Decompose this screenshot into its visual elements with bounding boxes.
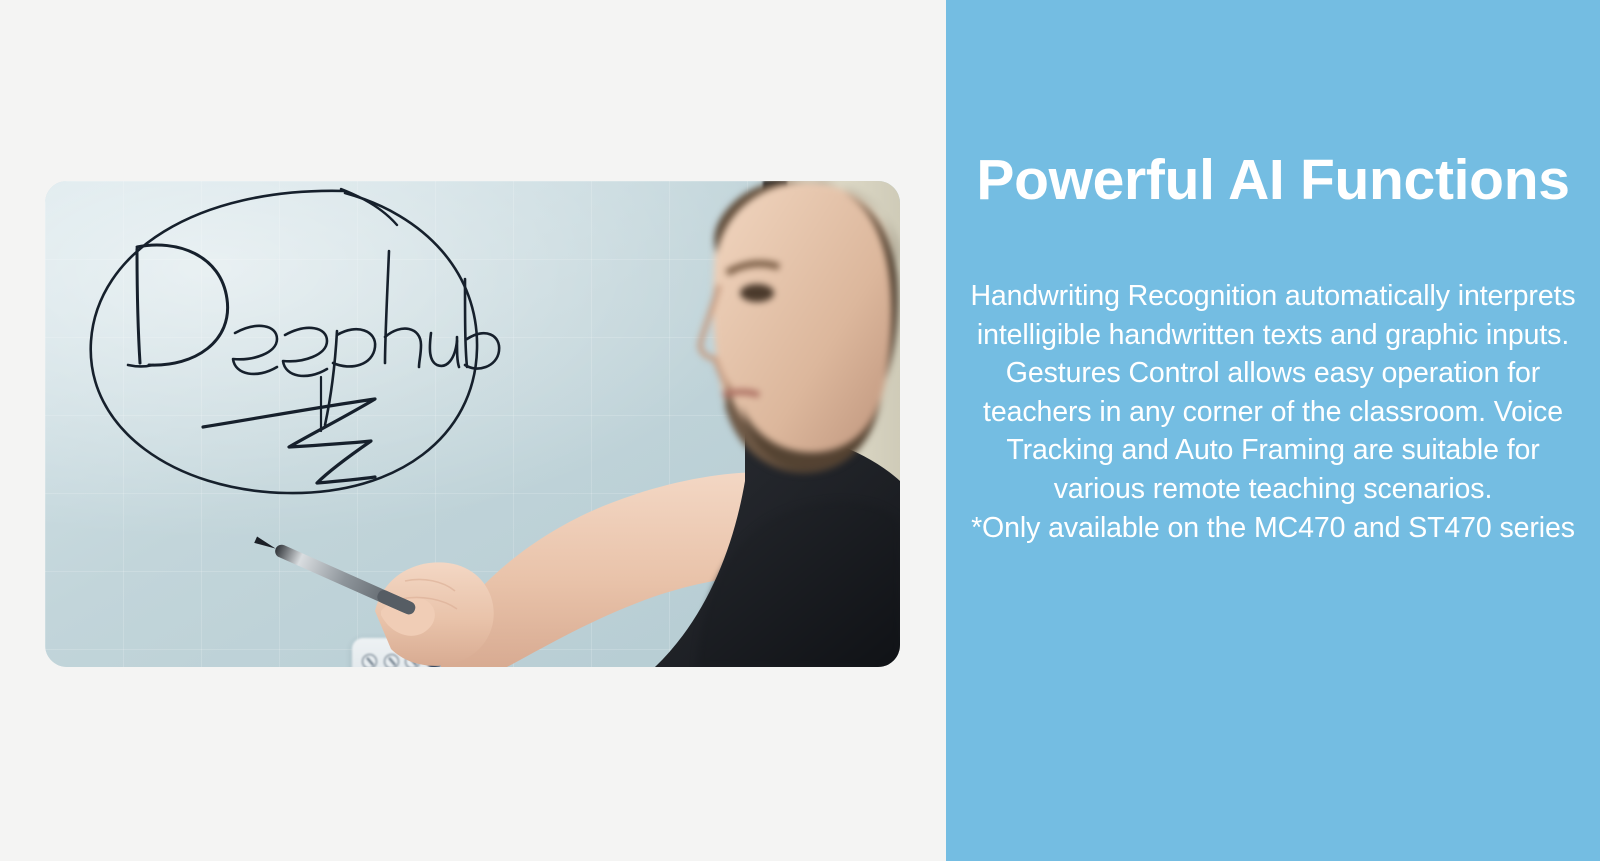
page-title: Powerful AI Functions — [968, 140, 1578, 221]
person-figure — [657, 181, 900, 667]
info-panel: Powerful AI Functions Handwriting Recogn… — [946, 0, 1600, 861]
whiteboard-photo-card[interactable] — [45, 181, 900, 667]
media-panel — [0, 0, 946, 861]
slide-root: Powerful AI Functions Handwriting Recogn… — [0, 0, 1600, 861]
description-text: Handwriting Recognition automatically in… — [968, 277, 1578, 547]
